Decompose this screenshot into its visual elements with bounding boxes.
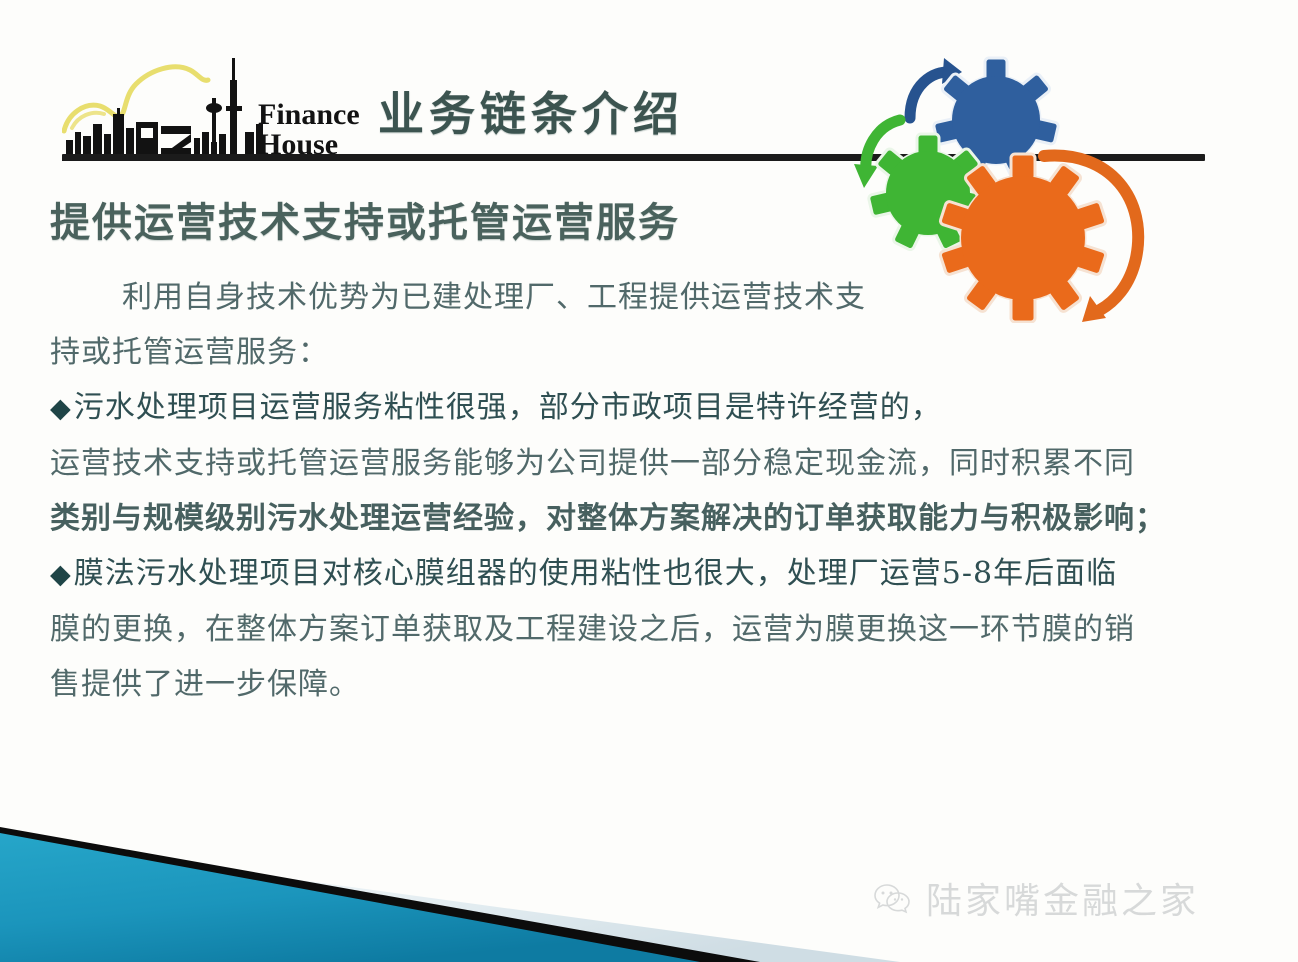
bullet-line-text: 膜法污水处理项目对核心膜组器的使用粘性也很大，处理厂运营5-8年后面临 bbox=[74, 556, 1117, 591]
bullet-line: ◆膜法污水处理项目对核心膜组器的使用粘性也很大，处理厂运营5-8年后面临 bbox=[50, 546, 1250, 602]
bullet-diamond-icon: ◆ bbox=[50, 393, 74, 424]
bullet-line: 运营技术支持或托管运营服务能够为公司提供一部分稳定现金流，同时积累不同 bbox=[50, 436, 1250, 491]
watermark-text: 陆家嘴金融之家 bbox=[926, 872, 1199, 924]
wechat-icon bbox=[872, 878, 912, 918]
section-subheading: 提供运营技术支持或托管运营服务 bbox=[50, 190, 680, 248]
logo-swoosh bbox=[64, 67, 208, 131]
presentation-slide: Finance House 业务链条介绍 bbox=[0, 0, 1298, 962]
bullet-line: ◆污水处理项目运营服务粘性很强，部分市政项目是特许经营的， bbox=[50, 380, 1250, 436]
bullet-line: 售提供了进一步保障。 bbox=[50, 657, 1250, 712]
page-title: 业务链条介绍 bbox=[378, 78, 684, 144]
bullet-line-text: 污水处理项目运营服务粘性很强，部分市政项目是特许经营的， bbox=[74, 390, 942, 425]
paragraph-line: 利用自身技术优势为已建处理厂、工程提供运营技术支 bbox=[50, 270, 1250, 325]
bullet-line: 膜的更换，在整体方案订单获取及工程建设之后，运营为膜更换这一环节膜的销 bbox=[50, 602, 1250, 657]
logo-text-finance: Finance bbox=[258, 98, 360, 131]
bullet-diamond-icon: ◆ bbox=[50, 559, 74, 590]
bottom-decoration bbox=[0, 787, 900, 962]
company-logo: Finance House bbox=[62, 36, 362, 161]
logo-graphic: Finance House bbox=[62, 36, 362, 161]
bullet-line: 类别与规模级别污水处理运营经验，对整体方案解决的订单获取能力与积极影响； bbox=[50, 491, 1250, 546]
paragraph-line: 持或托管运营服务： bbox=[50, 325, 1250, 380]
body-text-block: 利用自身技术优势为已建处理厂、工程提供运营技术支 持或托管运营服务： ◆污水处理… bbox=[50, 270, 1250, 712]
watermark: 陆家嘴金融之家 bbox=[872, 872, 1199, 924]
bottom-decoration-graphic bbox=[0, 787, 900, 962]
